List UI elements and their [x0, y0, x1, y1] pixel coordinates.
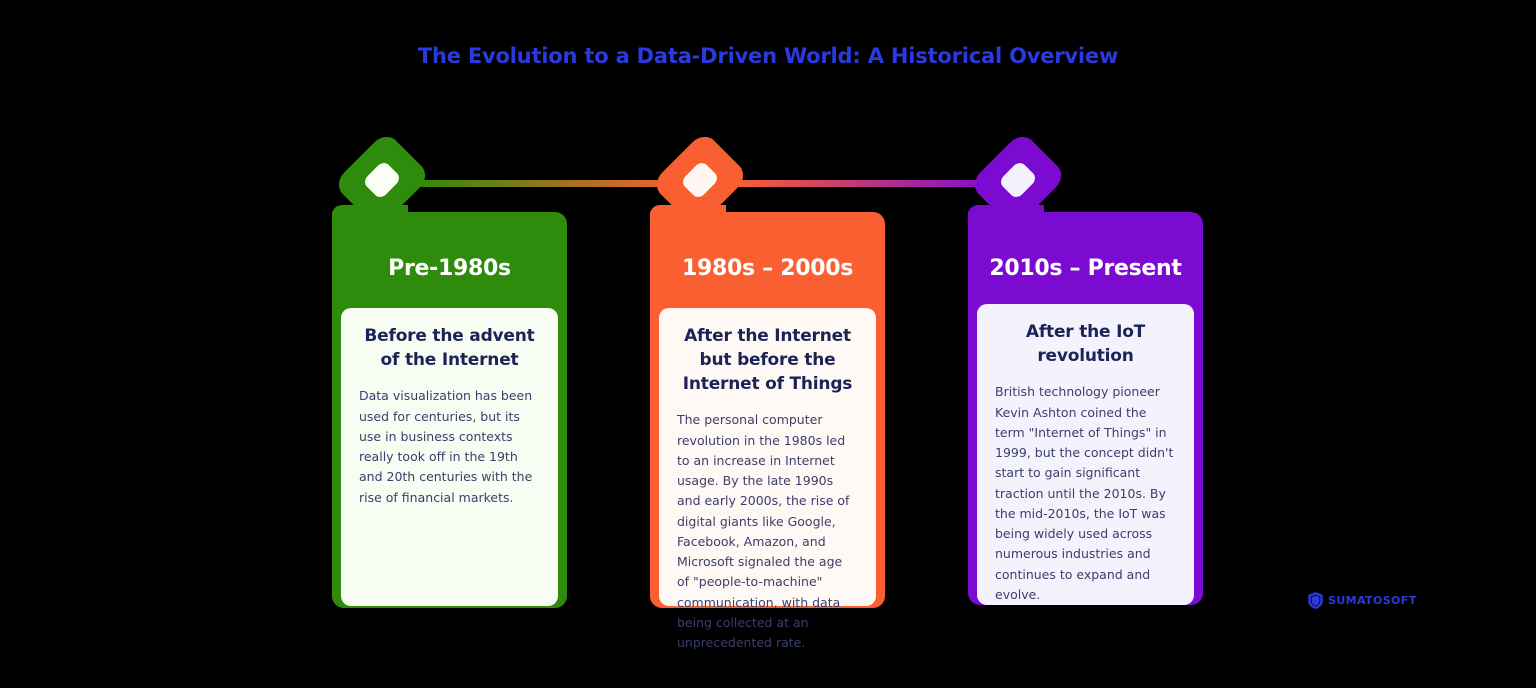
milestone-marker[interactable]	[327, 125, 437, 235]
brand-logo[interactable]: SUMATOSOFT	[1308, 592, 1417, 609]
milestone-marker[interactable]	[645, 125, 755, 235]
card-panel: After the IoT revolution British technol…	[977, 304, 1194, 605]
period-label: 2010s – Present	[968, 256, 1203, 281]
card-body-text: Data visualization has been used for cen…	[359, 386, 540, 508]
period-label: 1980s – 2000s	[650, 256, 885, 281]
card-shell[interactable]: 2010s – Present After the IoT revolution…	[968, 212, 1203, 605]
timeline-milestone-2010s-present: 2010s – Present After the IoT revolution…	[951, 0, 1251, 688]
card-subtitle: After the Internet but before the Intern…	[677, 324, 858, 396]
infographic-canvas: The Evolution to a Data-Driven World: A …	[0, 0, 1536, 688]
shield-icon	[1308, 592, 1323, 609]
brand-logo-text: SUMATOSOFT	[1328, 594, 1417, 607]
card-shell[interactable]: 1980s – 2000s After the Internet but bef…	[650, 212, 885, 608]
card-shell[interactable]: Pre-1980s Before the advent of the Inter…	[332, 212, 567, 608]
milestone-marker[interactable]	[963, 125, 1073, 235]
card-panel: After the Internet but before the Intern…	[659, 308, 876, 606]
timeline-milestone-1980s-2000s: 1980s – 2000s After the Internet but bef…	[633, 0, 933, 688]
card-panel: Before the advent of the Internet Data v…	[341, 308, 558, 606]
card-body-text: The personal computer revolution in the …	[677, 410, 858, 653]
timeline-milestone-pre-1980s: Pre-1980s Before the advent of the Inter…	[315, 0, 615, 688]
card-subtitle: Before the advent of the Internet	[359, 324, 540, 372]
period-label: Pre-1980s	[332, 256, 567, 281]
card-subtitle: After the IoT revolution	[995, 320, 1176, 368]
card-body-text: British technology pioneer Kevin Ashton …	[995, 382, 1176, 605]
